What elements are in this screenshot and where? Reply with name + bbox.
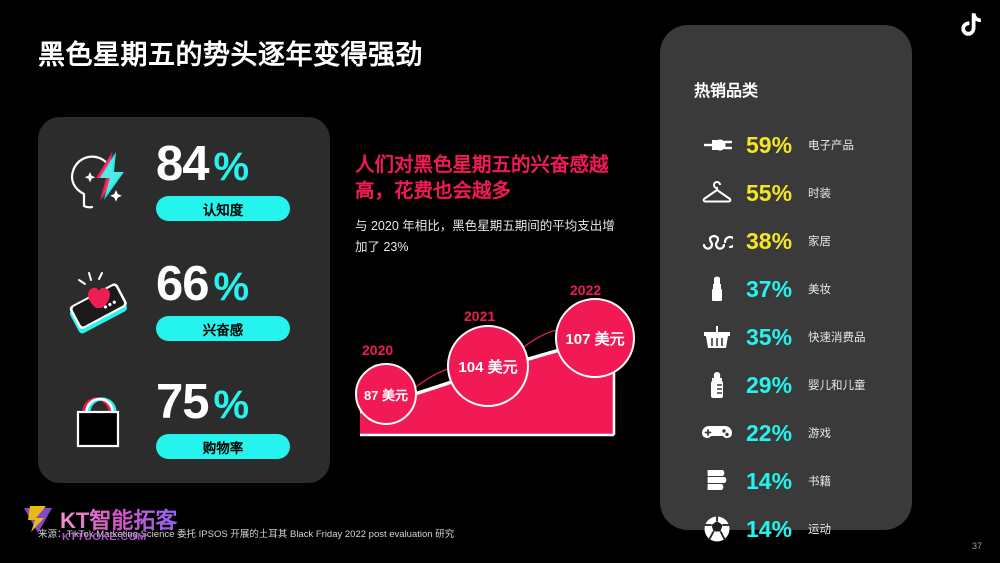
power-plug-icon xyxy=(694,133,740,157)
category-label: 婴儿和儿童 xyxy=(808,377,866,393)
stat-row: 84 % 认知度 xyxy=(38,129,330,233)
category-row: 29% 婴儿和儿童 xyxy=(660,361,912,409)
books-icon xyxy=(694,468,740,494)
watermark: KT智能拓客 KTTUOKE.COM xyxy=(22,503,177,551)
stat-text: 84 % 认知度 xyxy=(156,141,330,222)
spend-growth-chart: 2020 2021 2022 87 美元 104 美元 107 美元 xyxy=(352,280,642,450)
middle-headline: 人们对黑色星期五的兴奋感越高，花费也会越多 xyxy=(355,152,630,205)
stat-value: 66 % xyxy=(156,261,316,308)
category-percent: 14% xyxy=(740,516,808,543)
stat-number: 66 xyxy=(156,261,209,308)
percent-symbol: % xyxy=(214,148,249,186)
watermark-bolt-icon xyxy=(22,504,56,534)
head-lightning-icon xyxy=(38,144,156,218)
chart-year-label-2021: 2021 xyxy=(464,308,495,324)
category-percent: 38% xyxy=(740,228,808,255)
middle-subtext: 与 2020 年相比，黑色星期五期间的平均支出增加了 23% xyxy=(355,216,627,257)
category-label: 书籍 xyxy=(808,473,831,489)
category-label: 电子产品 xyxy=(808,137,854,153)
percent-symbol: % xyxy=(214,386,249,424)
category-row: 14% 运动 xyxy=(660,505,912,553)
hanger-icon xyxy=(694,181,740,205)
stats-card: 84 % 认知度 xyxy=(38,117,330,483)
stat-value: 75 % xyxy=(156,379,316,426)
category-row: 55% 时装 xyxy=(660,169,912,217)
category-row: 37% 美妆 xyxy=(660,265,912,313)
category-percent: 14% xyxy=(740,468,808,495)
chart-year-label-2022: 2022 xyxy=(570,282,601,298)
phone-heart-icon xyxy=(38,264,156,338)
stat-number: 75 xyxy=(156,379,209,426)
lipstick-icon xyxy=(694,275,740,303)
category-percent: 37% xyxy=(740,276,808,303)
page-number: 37 xyxy=(972,541,982,551)
home-swirl-icon xyxy=(694,229,740,253)
chart-bubble-2021: 104 美元 xyxy=(447,325,529,407)
stat-row: 66 % 兴奋感 xyxy=(38,249,330,353)
category-percent: 59% xyxy=(740,132,808,159)
soccer-ball-icon xyxy=(694,515,740,543)
category-row: 35% 快速消费品 xyxy=(660,313,912,361)
chart-year-label-2020: 2020 xyxy=(362,342,393,358)
category-row: 59% 电子产品 xyxy=(660,121,912,169)
basket-icon xyxy=(694,324,740,350)
category-percent: 35% xyxy=(740,324,808,351)
chart-bubble-2020: 87 美元 xyxy=(355,363,417,425)
gamepad-icon xyxy=(694,422,740,444)
stat-number: 84 xyxy=(156,141,209,188)
category-percent: 22% xyxy=(740,420,808,447)
category-row: 22% 游戏 xyxy=(660,409,912,457)
categories-title: 热销品类 xyxy=(694,77,758,101)
stat-label-pill: 认知度 xyxy=(156,196,290,221)
stat-text: 66 % 兴奋感 xyxy=(156,261,330,342)
percent-symbol: % xyxy=(214,268,249,306)
category-label: 运动 xyxy=(808,521,831,537)
categories-list: 59% 电子产品 55% 时装 xyxy=(660,121,912,553)
category-percent: 55% xyxy=(740,180,808,207)
stat-label-pill: 兴奋感 xyxy=(156,316,290,341)
category-percent: 29% xyxy=(740,372,808,399)
category-label: 美妆 xyxy=(808,281,831,297)
chart-bubble-2022: 107 美元 xyxy=(555,298,635,378)
category-row: 14% 书籍 xyxy=(660,457,912,505)
shopping-bag-icon xyxy=(38,382,156,456)
category-label: 快速消费品 xyxy=(808,329,866,345)
category-row: 38% 家居 xyxy=(660,217,912,265)
stat-text: 75 % 购物率 xyxy=(156,379,330,460)
tiktok-logo xyxy=(958,12,984,42)
stat-label-pill: 购物率 xyxy=(156,434,290,459)
stat-row: 75 % 购物率 xyxy=(38,367,330,471)
page-title: 黑色星期五的势头逐年变得强劲 xyxy=(38,33,423,72)
category-label: 家居 xyxy=(808,233,831,249)
baby-bottle-icon xyxy=(694,370,740,400)
slide-canvas: 黑色星期五的势头逐年变得强劲 CONFIDENTIAL&PROPRIETARY … xyxy=(0,0,1000,563)
stat-value: 84 % xyxy=(156,141,316,188)
category-label: 游戏 xyxy=(808,425,831,441)
category-label: 时装 xyxy=(808,185,831,201)
categories-card: 热销品类 59% 电子产品 xyxy=(660,25,912,530)
